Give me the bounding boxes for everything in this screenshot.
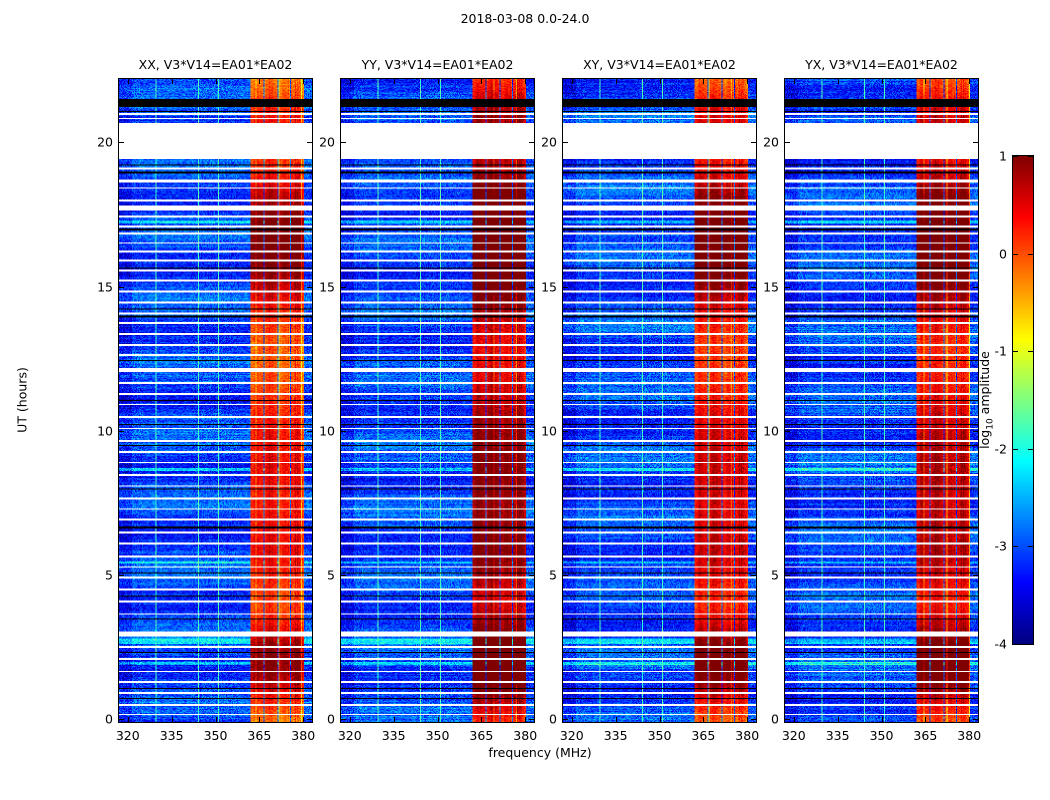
- y-axis-tick-label: 0: [327, 712, 341, 727]
- figure-suptitle: 2018-03-08 0.0-24.0: [0, 11, 1050, 26]
- x-axis-tick-mark: [660, 79, 661, 84]
- x-axis-tick-mark: [438, 79, 439, 84]
- y-axis-tick-mark: [529, 287, 534, 288]
- waterfall-plot-xx[interactable]: 32033535036538005101520: [118, 78, 313, 723]
- x-axis-tick-label: 365: [913, 722, 937, 743]
- colorbar-tick-label: -3: [995, 539, 1013, 554]
- y-axis-tick-mark: [307, 287, 312, 288]
- y-axis-tick-mark: [307, 719, 312, 720]
- x-axis-tick-mark: [303, 79, 304, 84]
- x-axis-tick-mark: [660, 717, 661, 722]
- x-axis-tick-mark: [128, 79, 129, 84]
- y-axis-tick-mark: [751, 575, 756, 576]
- x-axis-tick-mark: [481, 717, 482, 722]
- x-axis-tick-mark: [703, 79, 704, 84]
- y-axis-tick-mark: [563, 575, 568, 576]
- y-axis-tick-mark: [785, 575, 790, 576]
- y-axis-label: UT (hours): [15, 367, 30, 433]
- y-axis-tick-mark: [119, 575, 124, 576]
- x-axis-tick-mark: [838, 717, 839, 722]
- x-axis-tick-label: 320: [116, 722, 140, 743]
- x-axis-tick-label: 350: [870, 722, 894, 743]
- x-axis-tick-mark: [882, 79, 883, 84]
- x-axis-tick-mark: [394, 717, 395, 722]
- y-axis-tick-mark: [341, 142, 346, 143]
- x-axis-tick-mark: [216, 717, 217, 722]
- y-axis-tick-label: 10: [97, 423, 119, 438]
- x-axis-tick-mark: [303, 717, 304, 722]
- colorbar-tick-mark: [1013, 156, 1018, 157]
- y-axis-tick-mark: [973, 287, 978, 288]
- x-axis-tick-label: 335: [382, 722, 406, 743]
- y-axis-tick-mark: [785, 287, 790, 288]
- y-axis-tick-mark: [341, 431, 346, 432]
- colorbar[interactable]: 10-1-2-3-4: [1012, 155, 1034, 645]
- panel-xy: XY, V3*V14=EA01*EA02 3203353503653800510…: [562, 78, 757, 723]
- x-axis-tick-mark: [616, 79, 617, 84]
- x-axis-tick-mark: [438, 717, 439, 722]
- panel-xx: XX, V3*V14=EA01*EA02 3203353503653800510…: [118, 78, 313, 723]
- waterfall-plot-xy[interactable]: 32033535036538005101520: [562, 78, 757, 723]
- panel-title-xx: XX, V3*V14=EA01*EA02: [118, 57, 313, 78]
- x-axis-tick-label: 380: [735, 722, 759, 743]
- x-axis-tick-mark: [172, 717, 173, 722]
- x-axis-tick-label: 335: [160, 722, 184, 743]
- x-axis-tick-mark: [525, 717, 526, 722]
- x-axis-tick-label: 335: [826, 722, 850, 743]
- x-axis-tick-label: 335: [604, 722, 628, 743]
- colorbar-tick-label: -2: [995, 441, 1013, 456]
- y-axis-tick-label: 5: [105, 567, 119, 582]
- colorbar-tick-label: -4: [995, 637, 1013, 652]
- colorbar-tick-mark: [1028, 449, 1033, 450]
- x-axis-tick-mark: [572, 717, 573, 722]
- x-axis-tick-mark: [216, 79, 217, 84]
- x-axis-tick-mark: [259, 717, 260, 722]
- y-axis-tick-mark: [529, 575, 534, 576]
- colorbar-tick-mark: [1028, 644, 1033, 645]
- x-axis-tick-mark: [172, 79, 173, 84]
- colorbar-tick-mark: [1013, 449, 1018, 450]
- y-axis-tick-mark: [529, 431, 534, 432]
- panel-title-yy: YY, V3*V14=EA01*EA02: [340, 57, 535, 78]
- y-axis-tick-label: 5: [327, 567, 341, 582]
- colorbar-tick-label: 0: [999, 246, 1013, 261]
- y-axis-tick-mark: [307, 431, 312, 432]
- panel-yy: YY, V3*V14=EA01*EA02 3203353503653800510…: [340, 78, 535, 723]
- x-axis-tick-mark: [747, 79, 748, 84]
- y-axis-tick-mark: [341, 575, 346, 576]
- colorbar-tick-mark: [1013, 351, 1018, 352]
- figure: 2018-03-08 0.0-24.0 UT (hours) frequency…: [0, 0, 1050, 800]
- y-axis-tick-mark: [751, 142, 756, 143]
- y-axis-tick-mark: [751, 431, 756, 432]
- y-axis-tick-mark: [119, 719, 124, 720]
- x-axis-tick-label: 320: [782, 722, 806, 743]
- y-axis-tick-label: 15: [541, 279, 563, 294]
- y-axis-tick-mark: [973, 719, 978, 720]
- x-axis-tick-mark: [394, 79, 395, 84]
- colorbar-tick-mark: [1028, 254, 1033, 255]
- x-axis-tick-mark: [969, 717, 970, 722]
- x-axis-tick-mark: [572, 79, 573, 84]
- y-axis-tick-mark: [751, 287, 756, 288]
- y-axis-tick-label: 0: [549, 712, 563, 727]
- x-axis-tick-mark: [616, 717, 617, 722]
- x-axis-tick-mark: [747, 717, 748, 722]
- x-axis-tick-mark: [350, 717, 351, 722]
- y-axis-tick-mark: [973, 575, 978, 576]
- x-axis-tick-label: 350: [648, 722, 672, 743]
- x-axis-tick-label: 380: [957, 722, 981, 743]
- y-axis-tick-mark: [785, 142, 790, 143]
- colorbar-tick-mark: [1013, 546, 1018, 547]
- x-axis-tick-mark: [925, 717, 926, 722]
- y-axis-tick-mark: [973, 142, 978, 143]
- y-axis-tick-label: 5: [549, 567, 563, 582]
- x-axis-label: frequency (MHz): [488, 745, 591, 760]
- panel-title-yx: YX, V3*V14=EA01*EA02: [784, 57, 979, 78]
- y-axis-tick-mark: [563, 431, 568, 432]
- y-axis-tick-mark: [529, 719, 534, 720]
- colorbar-label: log10 amplitude: [977, 351, 996, 449]
- y-axis-tick-mark: [529, 142, 534, 143]
- y-axis-tick-label: 5: [771, 567, 785, 582]
- x-axis-tick-mark: [350, 79, 351, 84]
- x-axis-tick-mark: [703, 717, 704, 722]
- x-axis-tick-label: 320: [560, 722, 584, 743]
- y-axis-tick-mark: [563, 719, 568, 720]
- y-axis-tick-mark: [307, 575, 312, 576]
- y-axis-tick-mark: [751, 719, 756, 720]
- y-axis-tick-label: 10: [541, 423, 563, 438]
- y-axis-tick-mark: [119, 287, 124, 288]
- y-axis-tick-label: 10: [319, 423, 341, 438]
- y-axis-tick-mark: [563, 287, 568, 288]
- y-axis-tick-mark: [785, 431, 790, 432]
- panel-yx: YX, V3*V14=EA01*EA02 3203353503653800510…: [784, 78, 979, 723]
- y-axis-tick-label: 0: [105, 712, 119, 727]
- colorbar-tick-mark: [1028, 546, 1033, 547]
- waterfall-plot-yx[interactable]: 32033535036538005101520: [784, 78, 979, 723]
- y-axis-tick-mark: [341, 719, 346, 720]
- y-axis-tick-label: 15: [763, 279, 785, 294]
- x-axis-tick-mark: [525, 79, 526, 84]
- x-axis-tick-label: 380: [291, 722, 315, 743]
- x-axis-tick-mark: [128, 717, 129, 722]
- x-axis-tick-label: 365: [469, 722, 493, 743]
- y-axis-tick-label: 10: [763, 423, 785, 438]
- colorbar-tick-mark: [1013, 254, 1018, 255]
- panel-title-xy: XY, V3*V14=EA01*EA02: [562, 57, 757, 78]
- x-axis-tick-label: 380: [513, 722, 537, 743]
- x-axis-tick-label: 350: [426, 722, 450, 743]
- y-axis-tick-mark: [119, 142, 124, 143]
- colorbar-tick-mark: [1028, 351, 1033, 352]
- y-axis-tick-mark: [119, 431, 124, 432]
- x-axis-tick-mark: [838, 79, 839, 84]
- colorbar-tick-mark: [1013, 644, 1018, 645]
- x-axis-tick-mark: [882, 717, 883, 722]
- x-axis-tick-label: 320: [338, 722, 362, 743]
- colorbar-tick-label: 1: [999, 149, 1013, 164]
- y-axis-tick-label: 15: [319, 279, 341, 294]
- y-axis-tick-label: 0: [771, 712, 785, 727]
- x-axis-tick-label: 365: [691, 722, 715, 743]
- y-axis-tick-label: 20: [97, 135, 119, 150]
- y-axis-tick-mark: [307, 142, 312, 143]
- x-axis-tick-mark: [259, 79, 260, 84]
- x-axis-tick-mark: [794, 717, 795, 722]
- x-axis-tick-label: 365: [247, 722, 271, 743]
- colorbar-tick-label: -1: [995, 344, 1013, 359]
- y-axis-tick-mark: [785, 719, 790, 720]
- x-axis-tick-mark: [481, 79, 482, 84]
- x-axis-tick-mark: [794, 79, 795, 84]
- y-axis-tick-label: 20: [319, 135, 341, 150]
- y-axis-tick-mark: [563, 142, 568, 143]
- colorbar-tick-mark: [1028, 156, 1033, 157]
- x-axis-tick-mark: [969, 79, 970, 84]
- y-axis-tick-label: 15: [97, 279, 119, 294]
- waterfall-plot-yy[interactable]: 32033535036538005101520: [340, 78, 535, 723]
- x-axis-tick-label: 350: [204, 722, 228, 743]
- y-axis-tick-mark: [341, 287, 346, 288]
- y-axis-tick-label: 20: [541, 135, 563, 150]
- x-axis-tick-mark: [925, 79, 926, 84]
- y-axis-tick-label: 20: [763, 135, 785, 150]
